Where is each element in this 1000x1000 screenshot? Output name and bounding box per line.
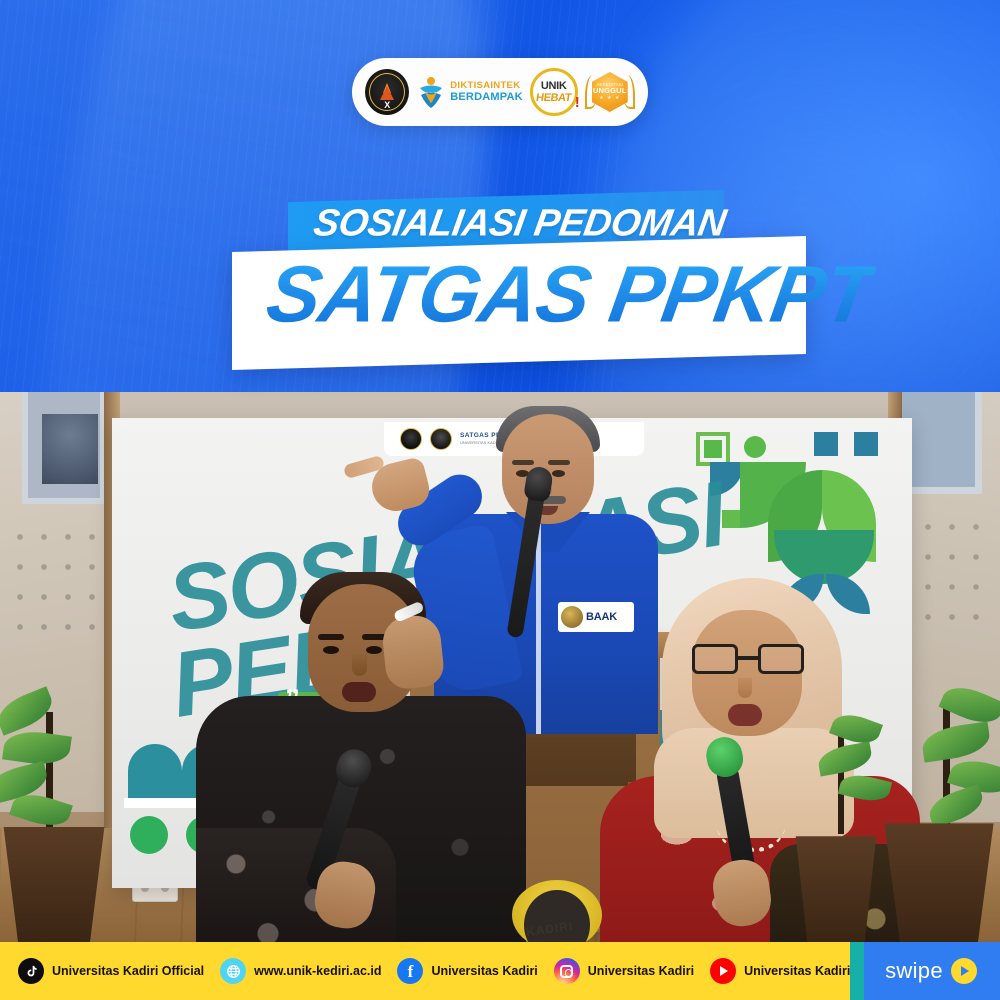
garuda-sub-label: X [384, 101, 390, 110]
facebook-icon: f [397, 958, 423, 984]
institution-logo-bar: X DIKTISAINTEK BERDAMPAK UNIK HEBAT ! [352, 58, 648, 126]
social-link-tiktok[interactable]: Universitas Kadiri Official [18, 958, 204, 984]
unggul-accreditation-badge: AKREDITASI UNGGUL ★ ★ ★ [585, 67, 635, 117]
wall-dot-pattern-left [8, 522, 112, 632]
social-link-label: www.unik-kediri.ac.id [254, 964, 381, 978]
potted-plant-left [0, 692, 114, 942]
social-link-instagram[interactable]: Universitas Kadiri [554, 958, 694, 984]
social-link-facebook[interactable]: f Universitas Kadiri [397, 958, 537, 984]
diktisaintek-mark-icon [416, 75, 446, 109]
framed-portrait-left [22, 392, 106, 504]
social-link-youtube[interactable]: Universitas Kadiri [710, 958, 850, 984]
swipe-label: swipe [885, 958, 943, 984]
globe-icon [220, 958, 246, 984]
title-band-lower: SATGAS PPKPT [232, 236, 806, 370]
table-seal-emblem: KADIRI [512, 880, 602, 948]
social-link-label: Universitas Kadiri [431, 964, 537, 978]
social-link-label: Universitas Kadiri [588, 964, 694, 978]
exclamation-mark: ! [575, 94, 580, 111]
social-link-website[interactable]: www.unik-kediri.ac.id [220, 958, 381, 984]
unik-hebat-badge: UNIK HEBAT ! [530, 68, 578, 116]
tiktok-icon [18, 958, 44, 984]
potted-plant-center-right [788, 712, 884, 942]
chevron-right-icon [951, 958, 977, 984]
eyeglasses-icon [690, 644, 806, 674]
event-photograph: SATGAS PPKPT UNIVERSITAS KADIRI SOSIALIS… [0, 392, 1000, 948]
social-link-label: Universitas Kadiri [744, 964, 850, 978]
page-title: SOSIALIASI PEDOMAN SATGAS PPKPT [0, 196, 1000, 396]
left-panelist-hand [380, 613, 445, 691]
diktisaintek-logo: DIKTISAINTEK BERDAMPAK [416, 75, 522, 109]
diktisaintek-wordmark: DIKTISAINTEK BERDAMPAK [450, 81, 522, 103]
instagram-icon [554, 958, 580, 984]
swipe-button[interactable]: swipe [862, 942, 1000, 1000]
youtube-icon [710, 958, 736, 984]
poster-canvas: X DIKTISAINTEK BERDAMPAK UNIK HEBAT ! [0, 0, 1000, 1000]
garuda-emblem-icon: X [365, 69, 409, 115]
badge-emblem-icon [561, 606, 583, 628]
social-link-label: Universitas Kadiri Official [52, 964, 204, 978]
backdrop-garuda-icon [400, 428, 422, 450]
potted-plant-right [874, 684, 1000, 942]
title-line-2: SATGAS PPKPT [262, 255, 879, 335]
